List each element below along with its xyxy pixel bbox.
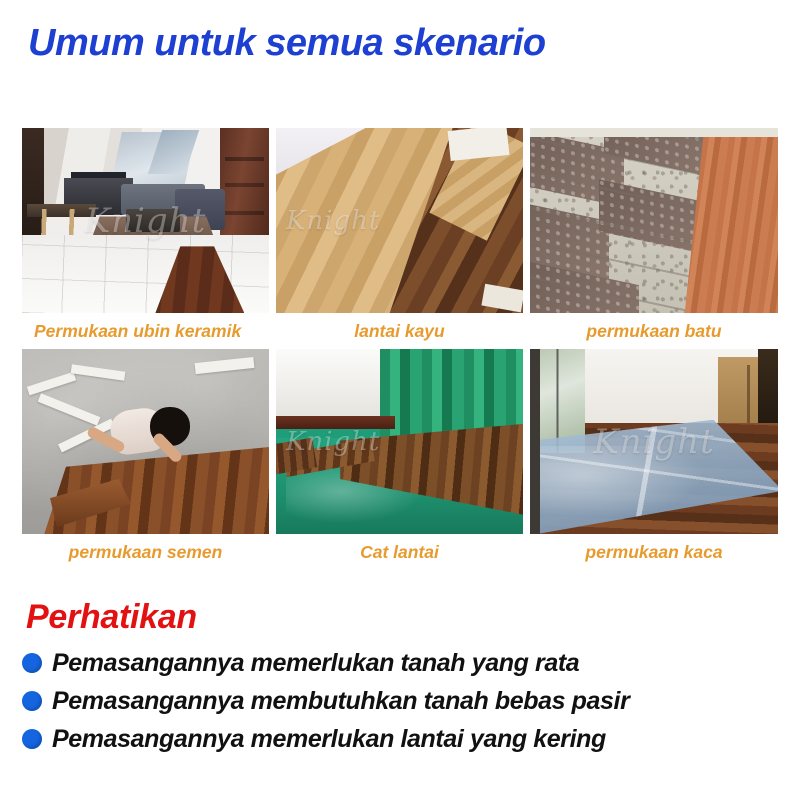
gallery-item-floor-paint[interactable]: Knight Cat lantai — [276, 349, 523, 561]
gallery-item-ceramic-tile[interactable]: Knight Permukaan ubin keramik — [22, 128, 269, 340]
gallery-row: permukaan semen Knight Cat lantai — [22, 349, 778, 561]
scenario-gallery: Knight Permukaan ubin keramik Knight lan… — [22, 128, 778, 562]
list-item-label: Pemasangannya membutuhkan tanah bebas pa… — [52, 687, 629, 716]
gallery-item-glass-surface[interactable]: Knight permukaan kaca — [530, 349, 778, 561]
gallery-caption: permukaan kaca — [530, 534, 778, 561]
list-item-label: Pemasangannya memerlukan lantai yang ker… — [52, 725, 606, 754]
bullet-dot-icon — [22, 653, 42, 673]
bullet-dot-icon — [22, 691, 42, 711]
list-item: Pemasangannya memerlukan tanah yang rata — [22, 644, 782, 682]
product-info-poster: Umum untuk semua skenario — [0, 0, 800, 800]
gallery-caption: permukaan semen — [22, 534, 269, 561]
gallery-caption: Cat lantai — [276, 534, 523, 561]
notice-heading: Perhatikan — [26, 598, 197, 637]
photo-ceramic-tile-surface: Knight — [22, 128, 269, 313]
gallery-caption: Permukaan ubin keramik — [22, 313, 269, 340]
list-item-label: Pemasangannya memerlukan tanah yang rata — [52, 649, 579, 678]
gallery-item-cement-surface[interactable]: permukaan semen — [22, 349, 269, 561]
notice-list: Pemasangannya memerlukan tanah yang rata… — [22, 644, 782, 758]
photo-wood-floor: Knight — [276, 128, 523, 313]
photo-glass-surface: Knight — [530, 349, 778, 534]
photo-stone-surface — [530, 128, 778, 313]
photo-floor-paint: Knight — [276, 349, 523, 534]
bullet-dot-icon — [22, 729, 42, 749]
list-item: Pemasangannya membutuhkan tanah bebas pa… — [22, 682, 782, 720]
list-item: Pemasangannya memerlukan lantai yang ker… — [22, 720, 782, 758]
photo-cement-surface — [22, 349, 269, 534]
gallery-item-stone-surface[interactable]: permukaan batu — [530, 128, 778, 340]
gallery-row: Knight Permukaan ubin keramik Knight lan… — [22, 128, 778, 340]
gallery-item-wood-floor[interactable]: Knight lantai kayu — [276, 128, 523, 340]
page-title: Umum untuk semua skenario — [28, 22, 546, 65]
gallery-caption: lantai kayu — [276, 313, 523, 340]
gallery-caption: permukaan batu — [530, 313, 778, 340]
